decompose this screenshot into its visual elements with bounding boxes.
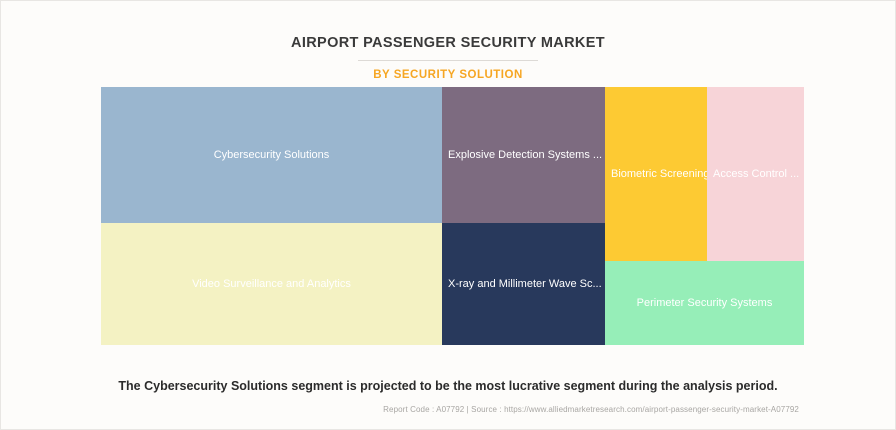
treemap-tile-label: X-ray and Millimeter Wave Sc... — [442, 278, 605, 291]
treemap-tile[interactable]: Cybersecurity Solutions — [101, 87, 442, 223]
treemap-tile[interactable]: Access Control ... — [707, 87, 804, 261]
chart-subtitle: BY SECURITY SOLUTION — [1, 69, 895, 81]
treemap-tile-label: Video Surveillance and Analytics — [186, 278, 357, 291]
treemap-tile[interactable]: Video Surveillance and Analytics — [101, 223, 442, 345]
report-source-line: Report Code : A07792 | Source : https://… — [383, 405, 799, 414]
treemap-tile[interactable]: X-ray and Millimeter Wave Sc... — [442, 223, 605, 345]
treemap-tile-label: Access Control ... — [707, 168, 804, 181]
treemap-tile-label: Biometric Screening — [605, 168, 707, 181]
treemap-tile[interactable]: Biometric Screening — [605, 87, 707, 261]
treemap-chart: Cybersecurity SolutionsVideo Surveillanc… — [101, 87, 804, 345]
treemap-tile-label: Cybersecurity Solutions — [208, 149, 336, 162]
chart-insight-note: The Cybersecurity Solutions segment is p… — [1, 379, 895, 393]
treemap-tile-label: Explosive Detection Systems ... — [442, 149, 605, 162]
title-divider — [358, 60, 538, 61]
treemap-tile-label: Perimeter Security Systems — [631, 297, 779, 310]
treemap-tile[interactable]: Explosive Detection Systems ... — [442, 87, 605, 223]
treemap-tile[interactable]: Perimeter Security Systems — [605, 261, 804, 345]
market-chart-card: AIRPORT PASSENGER SECURITY MARKET BY SEC… — [0, 0, 896, 430]
page-title: AIRPORT PASSENGER SECURITY MARKET — [1, 35, 895, 51]
